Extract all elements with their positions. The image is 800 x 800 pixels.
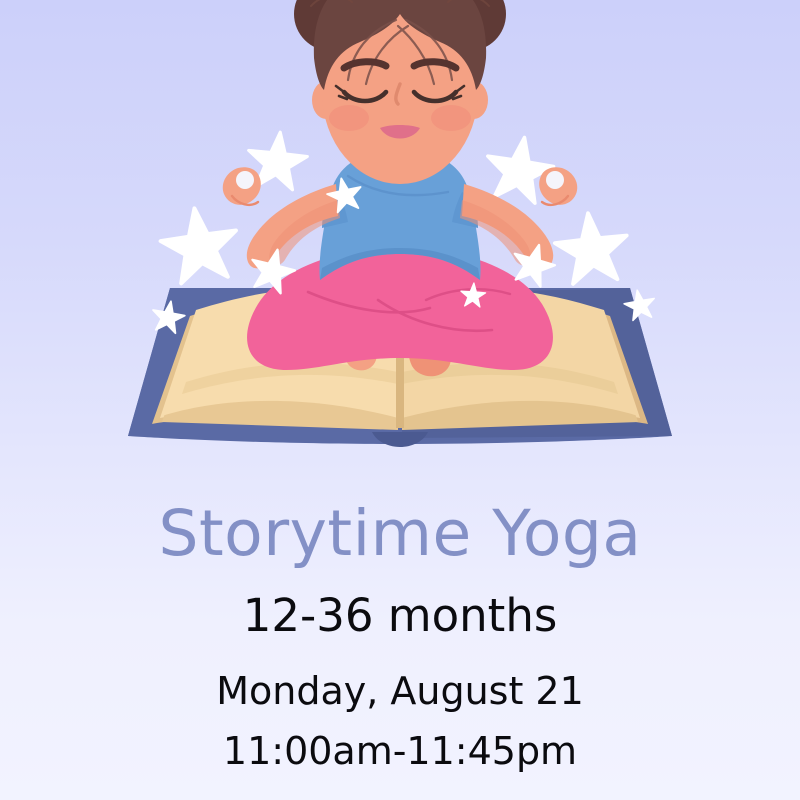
- event-time-label: 11:00am-11:45pm: [0, 710, 800, 770]
- star-icon: [552, 209, 631, 285]
- cheek-left: [329, 105, 369, 131]
- mudra-circle-left: [236, 171, 254, 189]
- event-date-label: Monday, August 21: [0, 638, 800, 710]
- poster-text-block: Storytime Yoga 12-36 months Monday, Augu…: [0, 478, 800, 770]
- head: [294, 0, 506, 184]
- poster-canvas: Storytime Yoga 12-36 months Monday, Augu…: [0, 0, 800, 800]
- mudra-circle-right: [546, 171, 564, 189]
- illustration-girl-meditating-on-book: [0, 0, 800, 470]
- page-title: Storytime Yoga: [0, 478, 800, 565]
- star-icon: [157, 203, 242, 285]
- hand-left-mudra: [223, 167, 261, 205]
- cheek-right: [431, 105, 471, 131]
- skirt-crossed-legs: [247, 248, 553, 370]
- book-spine-bump: [372, 432, 428, 447]
- age-range-label: 12-36 months: [0, 565, 800, 638]
- hand-right-mudra: [539, 167, 577, 205]
